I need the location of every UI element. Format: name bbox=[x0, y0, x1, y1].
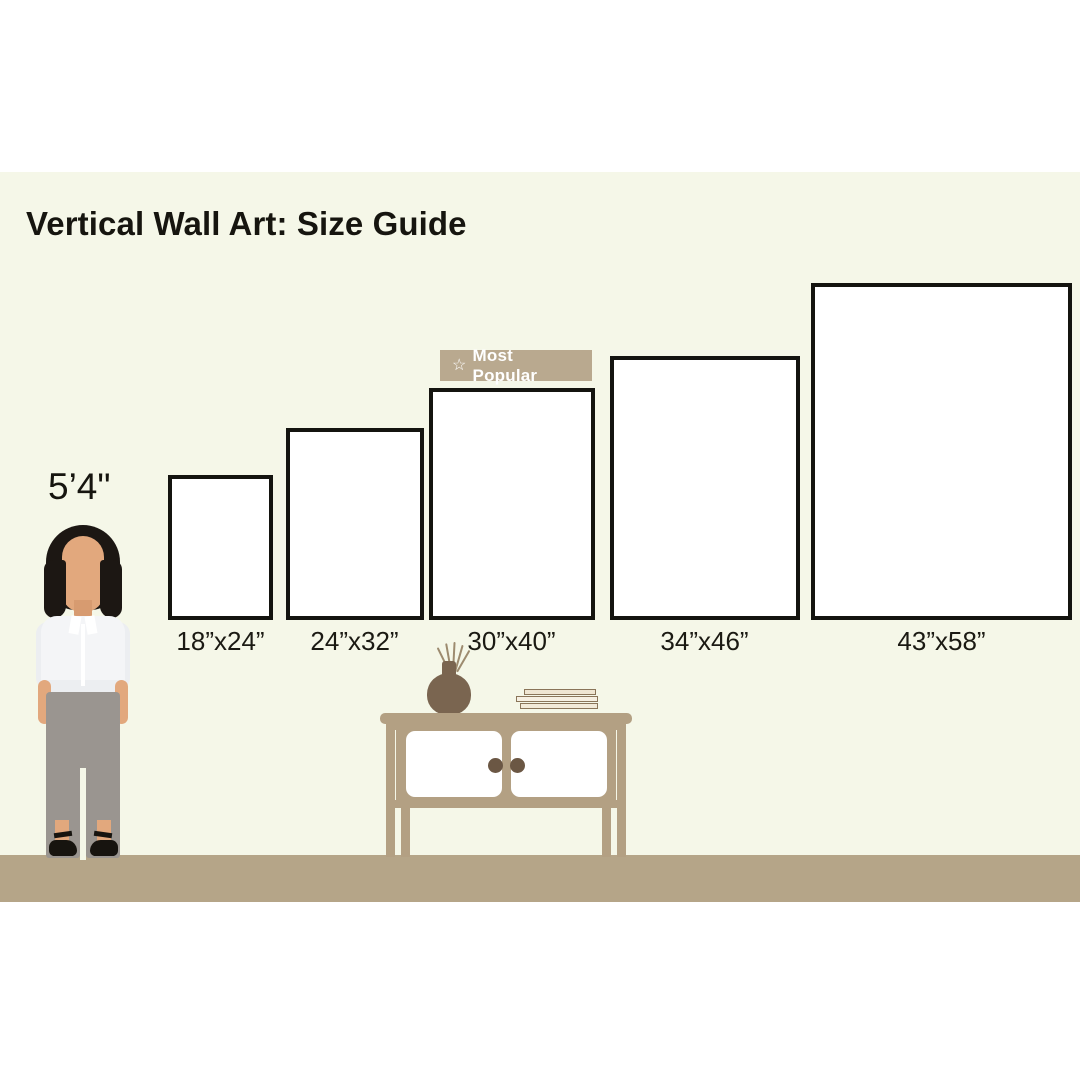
blouse-placket bbox=[81, 624, 85, 686]
book-top bbox=[524, 689, 596, 695]
art-frame-label-30x40: 30”x40” bbox=[451, 626, 572, 657]
shoe-right bbox=[90, 840, 118, 856]
table-leg-outer-left bbox=[386, 724, 395, 857]
art-frame-label-43x58: 43”x58” bbox=[881, 626, 1002, 657]
table-top bbox=[380, 713, 632, 724]
hair-right bbox=[100, 560, 122, 618]
art-frame-label-18x24: 18”x24” bbox=[160, 626, 281, 657]
person-height-label: 5’4" bbox=[48, 466, 111, 508]
art-frame-label-34x46: 34”x46” bbox=[644, 626, 765, 657]
art-frame-43x58[interactable] bbox=[811, 283, 1072, 620]
console-table bbox=[380, 645, 632, 857]
cabinet-knob-left bbox=[488, 758, 503, 773]
table-apron bbox=[390, 724, 622, 730]
art-frame-label-24x32: 24”x32” bbox=[294, 626, 415, 657]
floor-band bbox=[0, 855, 1080, 902]
page-title: Vertical Wall Art: Size Guide bbox=[26, 205, 467, 243]
most-popular-badge: ☆ Most Popular bbox=[440, 350, 592, 381]
table-rail-right bbox=[602, 800, 626, 808]
cabinet-door-right bbox=[511, 731, 607, 797]
cabinet-knob-right bbox=[510, 758, 525, 773]
table-leg-outer-right bbox=[617, 724, 626, 857]
book-middle bbox=[516, 696, 598, 702]
book-bottom bbox=[520, 703, 598, 709]
leg-gap bbox=[80, 768, 86, 860]
shoe-left bbox=[49, 840, 77, 856]
table-rail-left bbox=[386, 800, 410, 808]
art-frame-30x40[interactable] bbox=[429, 388, 595, 620]
hair-left bbox=[44, 560, 66, 618]
vase-body bbox=[427, 673, 471, 715]
star-icon: ☆ bbox=[452, 358, 467, 374]
art-frame-18x24[interactable] bbox=[168, 475, 273, 620]
size-guide-canvas: Vertical Wall Art: Size Guide 5’4" bbox=[0, 0, 1080, 1080]
person-silhouette bbox=[20, 520, 146, 860]
art-frame-34x46[interactable] bbox=[610, 356, 800, 620]
table-stretcher bbox=[396, 800, 616, 808]
art-frame-24x32[interactable] bbox=[286, 428, 424, 620]
most-popular-badge-label: Most Popular bbox=[473, 346, 580, 386]
